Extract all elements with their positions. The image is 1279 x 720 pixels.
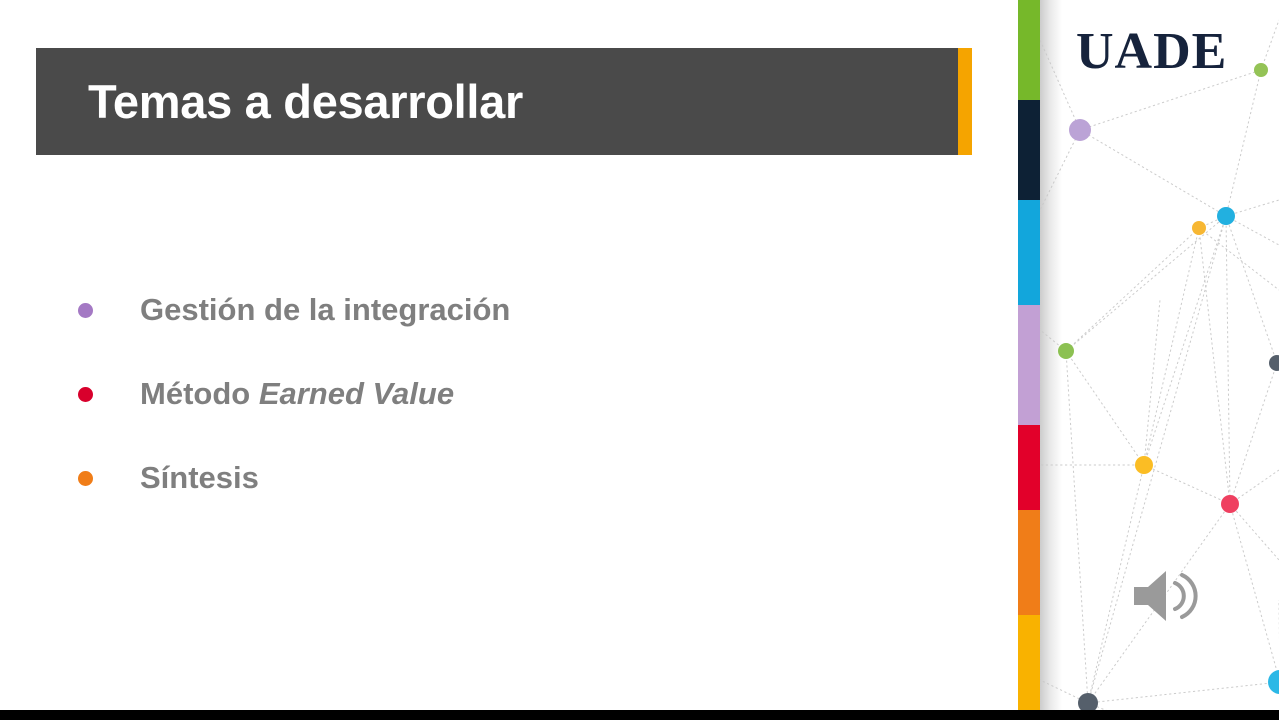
- stripe-segment-orange: [1018, 510, 1040, 615]
- stripe-segment-red: [1018, 425, 1040, 510]
- title-accent-bar: [958, 48, 972, 155]
- bullet-label-italic: Earned Value: [259, 376, 454, 411]
- stripe-segment-gold: [1018, 615, 1040, 712]
- stripe-segment-violet: [1018, 305, 1040, 425]
- slide-canvas: Temas a desarrollar Gestión de la integr…: [0, 0, 1279, 720]
- stripe-segment-navy: [1018, 100, 1040, 200]
- brand-color-stripe: [1018, 0, 1040, 720]
- bullet-dot-icon: [78, 303, 93, 318]
- stripe-segment-green: [1018, 0, 1040, 100]
- network-node-slate-right: [1269, 355, 1279, 371]
- list-item: Gestión de la integración: [78, 268, 938, 352]
- network-node-cyan-bot: [1268, 670, 1279, 694]
- page-title: Temas a desarrollar: [88, 48, 523, 155]
- bullet-label: Gestión de la integración: [140, 292, 510, 328]
- bullet-label: Síntesis: [140, 460, 259, 496]
- bullet-label-regular: Método: [140, 376, 259, 411]
- speaker-icon[interactable]: [1128, 565, 1200, 627]
- bullet-dot-icon: [78, 387, 93, 402]
- bullet-label: Método Earned Value: [140, 376, 454, 412]
- network-node-pink-mid: [1221, 495, 1239, 513]
- list-item: Método Earned Value: [78, 352, 938, 436]
- network-node-gold-mid: [1135, 456, 1153, 474]
- uade-logo: UADE: [1076, 26, 1227, 78]
- list-item: Síntesis: [78, 436, 938, 520]
- bullet-dot-icon: [78, 471, 93, 486]
- network-node-cyan-upper: [1217, 207, 1235, 225]
- network-node-green-left: [1058, 343, 1074, 359]
- bullet-list: Gestión de la integración Método Earned …: [78, 268, 938, 520]
- bottom-band: [0, 710, 1279, 720]
- stripe-segment-cyan: [1018, 200, 1040, 305]
- network-node-gold-upper: [1192, 221, 1206, 235]
- network-node-violet: [1069, 119, 1091, 141]
- network-node-green-top: [1254, 63, 1268, 77]
